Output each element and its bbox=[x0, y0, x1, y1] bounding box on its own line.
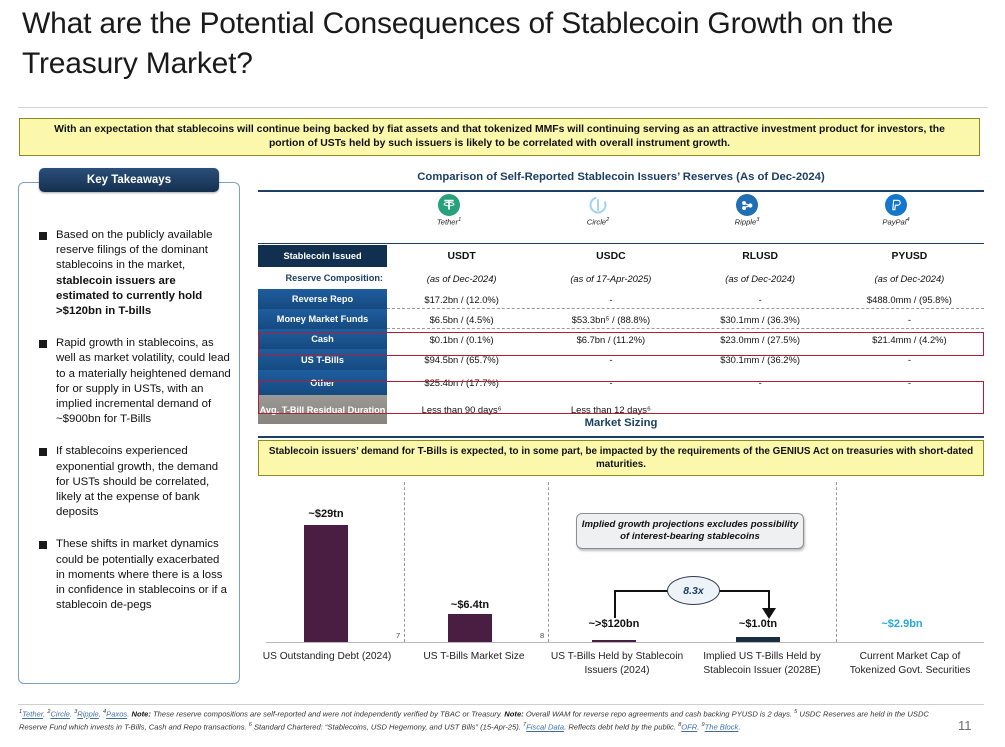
bar-tbills-held-by-issuers bbox=[592, 640, 636, 642]
row-label: Reverse Repo bbox=[258, 289, 387, 309]
table-cell: - bbox=[686, 289, 835, 309]
reserves-table: Stablecoin Issued USDT USDC RLUSD PYUSD … bbox=[258, 245, 984, 424]
footnote-divider bbox=[18, 704, 984, 705]
table-cell: $94.5bn / (65.7%) bbox=[387, 349, 536, 370]
table-cell: (as of Dec-2024) bbox=[387, 267, 536, 289]
row-label: Cash bbox=[258, 329, 387, 349]
table-row: Money Market Funds $6.5bn / (4.5%) $53.3… bbox=[258, 309, 984, 329]
connector-left-stem bbox=[614, 590, 616, 618]
chart-annotation-text: Implied growth projections excludes poss… bbox=[577, 519, 803, 544]
top-summary-banner-text: With an expectation that stablecoins wil… bbox=[46, 123, 953, 151]
comparison-table-title: Comparison of Self-Reported Stablecoin I… bbox=[258, 171, 984, 183]
list-item: Rapid growth in stablecoins, as well as … bbox=[39, 336, 231, 427]
list-item: If stablecoins experienced exponential g… bbox=[39, 444, 231, 520]
table-cell: $53.3bn⁵ / (88.8%) bbox=[536, 309, 685, 329]
bar-value-label: ~$2.9bn bbox=[860, 618, 944, 630]
table-cell: - bbox=[835, 349, 984, 370]
table-row: Stablecoin Issued USDT USDC RLUSD PYUSD bbox=[258, 245, 984, 267]
bar-us-tbills-market-size bbox=[448, 614, 492, 642]
main-content-area: Comparison of Self-Reported Stablecoin I… bbox=[258, 168, 984, 688]
row-label: Stablecoin Issued bbox=[258, 245, 387, 267]
market-sizing-banner-text: Stablecoin issuers’ demand for T-Bills i… bbox=[259, 445, 983, 472]
key-takeaways-list: Based on the publicly available reserve … bbox=[39, 228, 231, 630]
axis-footnote-7: 7 bbox=[396, 631, 400, 640]
table-cell: - bbox=[536, 289, 685, 309]
table-cell: $6.7bn / (11.2%) bbox=[536, 329, 685, 349]
key-takeaway-text: Based on the publicly available reserve … bbox=[56, 228, 231, 319]
table-cell: $23.0mm / (27.5%) bbox=[686, 329, 835, 349]
row-label: Money Market Funds bbox=[258, 309, 387, 329]
bar-value-label: ~$6.4tn bbox=[428, 599, 512, 611]
chart-divider bbox=[548, 482, 549, 642]
table-cell: (as of Dec-2024) bbox=[686, 267, 835, 289]
bullet-icon bbox=[39, 448, 47, 456]
chart-divider bbox=[836, 482, 837, 642]
footnote-link-the-block[interactable]: The Block bbox=[705, 723, 739, 732]
x-axis-label: Current Market Cap of Tokenized Govt. Se… bbox=[838, 650, 982, 677]
table-cell: $0.1bn / (0.1%) bbox=[387, 329, 536, 349]
table-cell: $488.0mm / (95.8%) bbox=[835, 289, 984, 309]
issuer-logo-ripple: Ripple3 bbox=[687, 192, 807, 227]
chart-annotation-callout: Implied growth projections excludes poss… bbox=[576, 513, 804, 549]
bar-value-label: ~$29tn bbox=[284, 508, 368, 520]
table-cell: (as of 17-Apr-2025) bbox=[536, 267, 685, 289]
market-sizing-banner: Stablecoin issuers’ demand for T-Bills i… bbox=[258, 440, 984, 476]
growth-multiple-badge: 8.3x bbox=[667, 576, 720, 605]
key-takeaway-text: If stablecoins experienced exponential g… bbox=[56, 444, 231, 520]
chart-divider bbox=[404, 482, 405, 642]
market-sizing-chart: ~$29tn ~$6.4tn ~>$120bn ~$1.0tn ~$2.9bn … bbox=[258, 480, 984, 688]
table-cell: $17.2bn / (12.0%) bbox=[387, 289, 536, 309]
x-axis-label: Implied US T-Bills Held by Stablecoin Is… bbox=[692, 650, 832, 677]
row-label: Reserve Composition: bbox=[258, 267, 387, 289]
x-axis-label: US Outstanding Debt (2024) bbox=[262, 650, 392, 664]
page-number: 11 bbox=[958, 718, 972, 733]
table-cell: - bbox=[835, 309, 984, 329]
table-cell: - bbox=[536, 370, 685, 395]
bar-value-label: ~>$120bn bbox=[568, 618, 660, 630]
issuer-name: PayPal4 bbox=[836, 217, 956, 227]
row-label: Other bbox=[258, 370, 387, 395]
table-cell: - bbox=[686, 370, 835, 395]
axis-footnote-8: 8 bbox=[540, 631, 544, 640]
market-sizing-title: Market Sizing bbox=[258, 417, 984, 429]
table-row: Reverse Repo $17.2bn / (12.0%) - - $488.… bbox=[258, 289, 984, 309]
table-cell: RLUSD bbox=[686, 245, 835, 267]
footnote-link-paxos[interactable]: Paxos bbox=[106, 710, 127, 719]
table-cell: - bbox=[536, 349, 685, 370]
issuer-logo-circle: Circle2 bbox=[538, 192, 658, 227]
table-cell: USDC bbox=[536, 245, 685, 267]
footnote-link-tether[interactable]: Tether bbox=[22, 710, 43, 719]
table-row-us-tbills: US T-Bills $94.5bn / (65.7%) - $30.1mm /… bbox=[258, 349, 984, 370]
key-takeaway-text: Rapid growth in stablecoins, as well as … bbox=[56, 336, 231, 427]
list-item: Based on the publicly available reserve … bbox=[39, 228, 231, 319]
chart-x-axis bbox=[266, 642, 984, 643]
page-title: What are the Potential Consequences of S… bbox=[22, 4, 982, 84]
bar-value-label: ~$1.0tn bbox=[716, 618, 800, 630]
title-divider bbox=[18, 107, 988, 108]
divider bbox=[258, 436, 984, 438]
table-cell: $25.4bn / (17.7%) bbox=[387, 370, 536, 395]
footnote-link-ripple[interactable]: Ripple bbox=[77, 710, 99, 719]
bullet-icon bbox=[39, 340, 47, 348]
issuer-name: Circle2 bbox=[538, 217, 658, 227]
table-cell: USDT bbox=[387, 245, 536, 267]
footnote-link-fiscal-data[interactable]: Fiscal Data bbox=[526, 723, 564, 732]
key-takeaways-panel: Based on the publicly available reserve … bbox=[18, 182, 240, 684]
row-label: US T-Bills bbox=[258, 349, 387, 370]
bar-us-outstanding-debt bbox=[304, 525, 348, 642]
table-cell: $30.1mm / (36.2%) bbox=[686, 349, 835, 370]
issuer-name: Tether1 bbox=[389, 217, 509, 227]
table-cell: - bbox=[835, 370, 984, 395]
divider bbox=[258, 243, 984, 244]
ripple-icon bbox=[736, 194, 758, 216]
table-cell: PYUSD bbox=[835, 245, 984, 267]
footnote-link-ofr[interactable]: OFR bbox=[681, 723, 697, 732]
list-item: These shifts in market dynamics could be… bbox=[39, 537, 231, 613]
table-cell: $6.5bn / (4.5%) bbox=[387, 309, 536, 329]
bullet-icon bbox=[39, 232, 47, 240]
circle-icon bbox=[587, 194, 609, 216]
issuer-logo-tether: Tether1 bbox=[389, 192, 509, 227]
x-axis-label: US T-Bills Market Size bbox=[408, 650, 540, 664]
tether-icon bbox=[438, 194, 460, 216]
bar-implied-tbills-2028e bbox=[736, 637, 780, 642]
x-axis-label: US T-Bills Held by Stablecoin Issuers (2… bbox=[550, 650, 684, 677]
issuer-name: Ripple3 bbox=[687, 217, 807, 227]
table-row: Other $25.4bn / (17.7%) - - - bbox=[258, 370, 984, 395]
bullet-icon bbox=[39, 541, 47, 549]
table-cell: (as of Dec-2024) bbox=[835, 267, 984, 289]
top-summary-banner: With an expectation that stablecoins wil… bbox=[19, 118, 980, 156]
paypal-icon bbox=[885, 194, 907, 216]
issuer-logo-paypal: PayPal4 bbox=[836, 192, 956, 227]
footnote-link-circle[interactable]: Circle bbox=[50, 710, 69, 719]
key-takeaways-header: Key Takeaways bbox=[39, 168, 219, 192]
table-row: Cash $0.1bn / (0.1%) $6.7bn / (11.2%) $2… bbox=[258, 329, 984, 349]
table-cell: $21.4mm / (4.2%) bbox=[835, 329, 984, 349]
table-cell: $30.1mm / (36.3%) bbox=[686, 309, 835, 329]
table-row: Reserve Composition: (as of Dec-2024) (a… bbox=[258, 267, 984, 289]
footnotes: 1Tether. 2Circle. 3Ripple. 4Paxos. Note:… bbox=[19, 707, 929, 733]
key-takeaway-text: These shifts in market dynamics could be… bbox=[56, 537, 231, 613]
connector-arrowhead-icon bbox=[762, 608, 776, 619]
